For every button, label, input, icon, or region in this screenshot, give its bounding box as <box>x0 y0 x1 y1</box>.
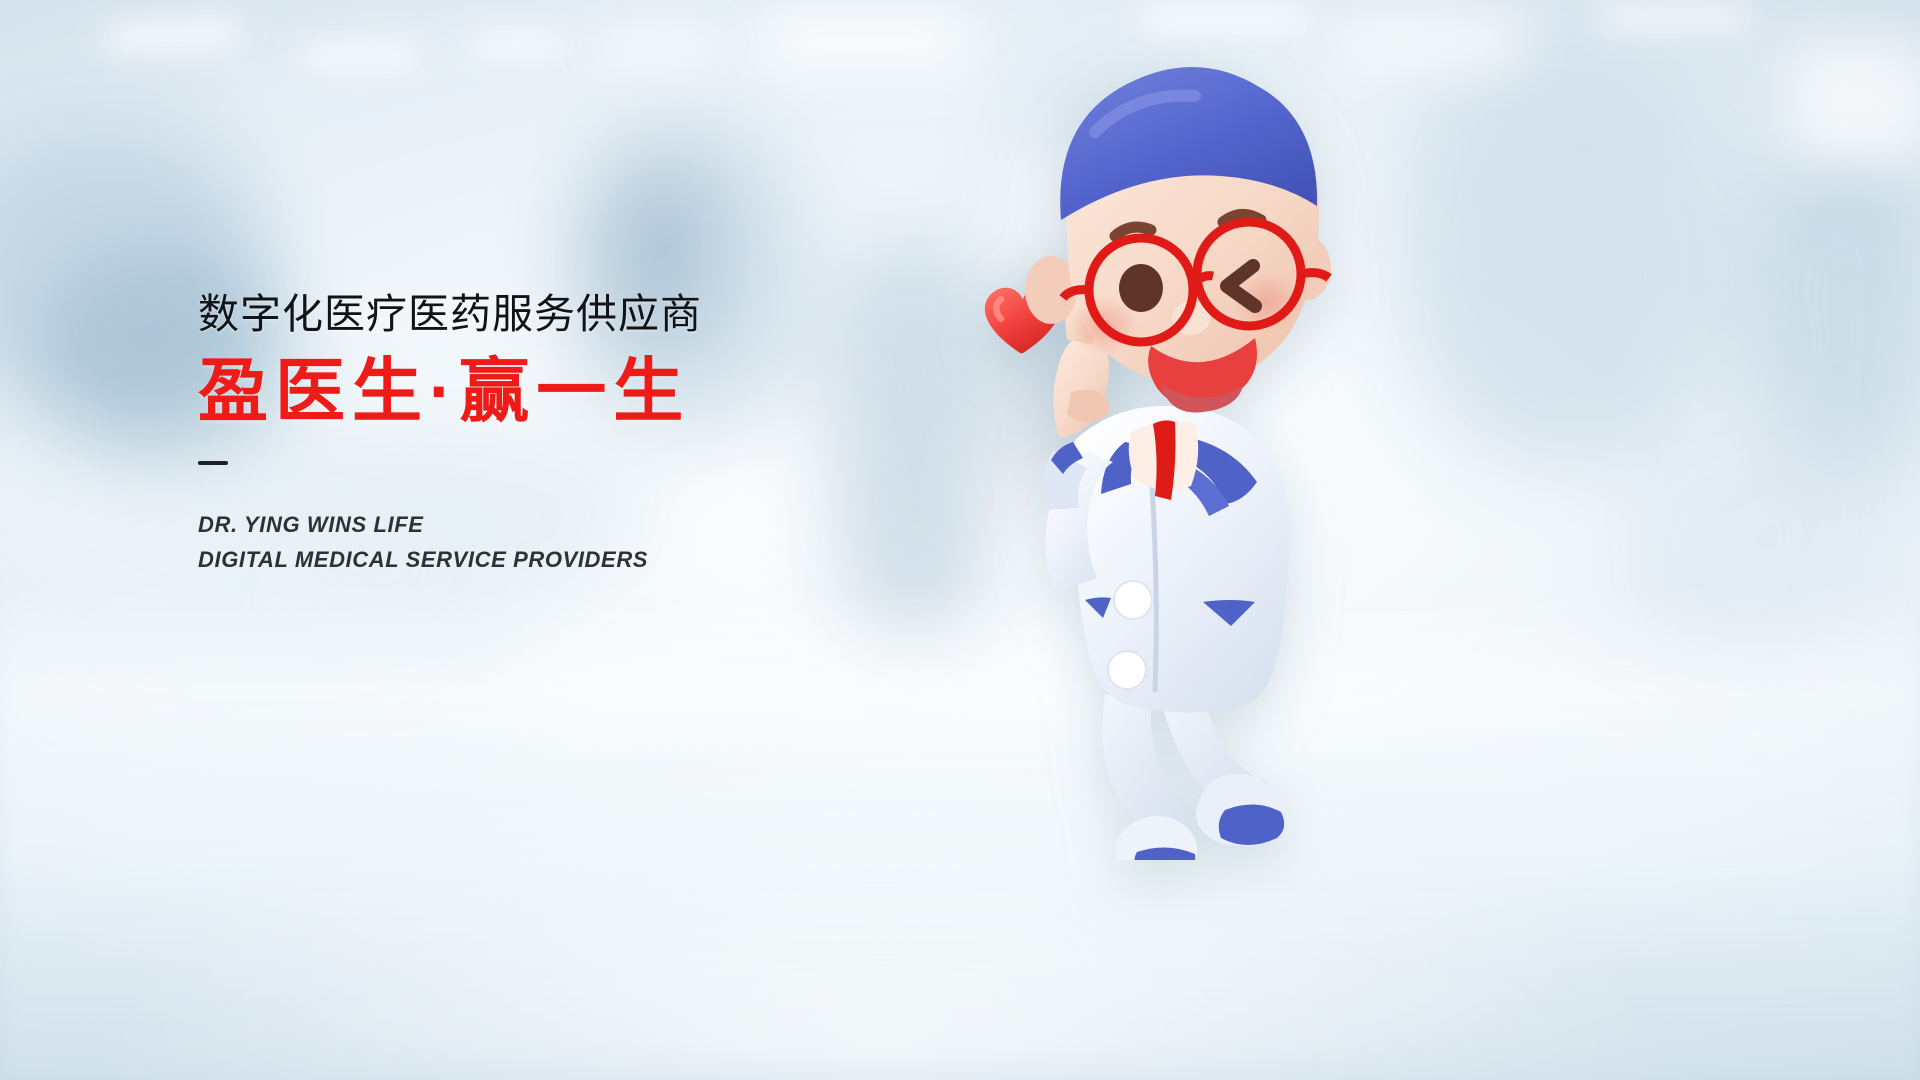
copy-block: 数字化医疗医药服务供应商 盈医生·赢一生 DR. YING WINS LIFE … <box>198 292 958 578</box>
banner-subheadline: 数字化医疗医药服务供应商 <box>198 292 958 337</box>
english-tagline-primary: DR. YING WINS LIFE <box>198 507 958 543</box>
english-tagline-secondary: DIGITAL MEDICAL SERVICE PROVIDERS <box>198 542 958 578</box>
hero-banner: 数字化医疗医药服务供应商 盈医生·赢一生 DR. YING WINS LIFE … <box>0 0 1920 1080</box>
banner-headline: 盈医生·赢一生 <box>198 355 958 429</box>
divider-rule <box>198 461 228 465</box>
english-tagline-block: DR. YING WINS LIFE DIGITAL MEDICAL SERVI… <box>198 507 958 578</box>
doctor-mascot-illustration <box>955 40 1385 860</box>
